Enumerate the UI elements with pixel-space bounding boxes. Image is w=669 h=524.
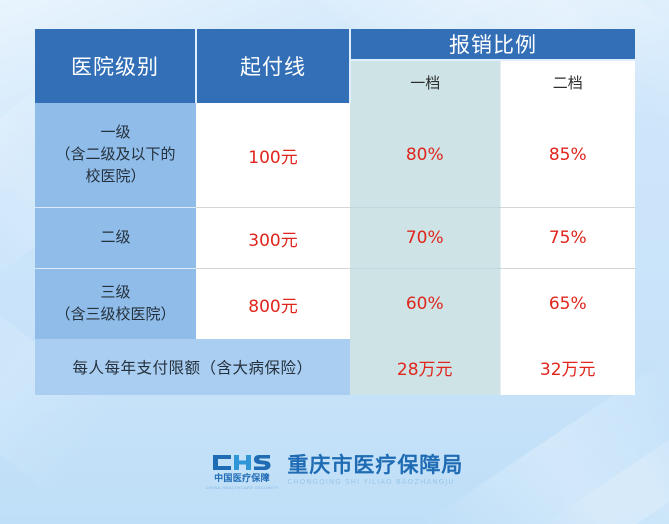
cell-tier-two-rate: 65% <box>500 269 635 340</box>
organization-name-block: 重庆市医疗保障局 CHONGQING SHI YILIAO BAOZHANGJU <box>287 455 463 488</box>
reimbursement-table-wrapper: 医院级别 起付线 报销比例 一档 二档 一级 （含二级及以下的 校医院） 100… <box>35 29 635 395</box>
cell-annual-limit-tier-one: 28万元 <box>350 339 500 395</box>
cell-annual-limit-tier-two: 32万元 <box>500 339 635 395</box>
level-line-1: 一级 <box>35 122 196 144</box>
table-header-row-top: 医院级别 起付线 报销比例 <box>35 29 635 60</box>
chs-logo-chinese: 中国医疗保障 <box>214 475 270 484</box>
cell-tier-one-rate: 70% <box>350 208 500 269</box>
header-reimbursement-ratio: 报销比例 <box>350 29 635 60</box>
table-row: 二级 300元 70% 75% <box>35 208 635 269</box>
footer-branding: 中国医疗保障 CHINA HEALTHCARE SECURITY 重庆市医疗保障… <box>0 452 669 490</box>
cell-hospital-level: 三级 （含三级校医院） <box>35 269 196 340</box>
header-deductible: 起付线 <box>196 29 350 103</box>
table-row: 一级 （含二级及以下的 校医院） 100元 80% 85% <box>35 103 635 208</box>
reimbursement-rate-table: 医院级别 起付线 报销比例 一档 二档 一级 （含二级及以下的 校医院） 100… <box>35 29 635 395</box>
header-tier-one: 一档 <box>350 60 500 103</box>
level-line-2: （含二级及以下的 <box>35 144 196 166</box>
cell-tier-one-rate: 80% <box>350 103 500 208</box>
cell-tier-two-rate: 85% <box>500 103 635 208</box>
table-row-annual-limit: 每人每年支付限额（含大病保险） 28万元 32万元 <box>35 339 635 395</box>
level-line-2: （含三级校医院） <box>35 304 196 326</box>
header-hospital-level: 医院级别 <box>35 29 196 103</box>
poster-canvas: 医院级别 起付线 报销比例 一档 二档 一级 （含二级及以下的 校医院） 100… <box>0 0 669 524</box>
chs-logo-icon <box>211 452 273 473</box>
header-tier-two: 二档 <box>500 60 635 103</box>
chs-logo-english: CHINA HEALTHCARE SECURITY <box>206 486 279 490</box>
cell-tier-one-rate: 60% <box>350 269 500 340</box>
cell-tier-two-rate: 75% <box>500 208 635 269</box>
cell-deductible: 300元 <box>196 208 350 269</box>
organization-name-pinyin: CHONGQING SHI YILIAO BAOZHANGJU <box>287 479 454 486</box>
level-line-1: 三级 <box>35 282 196 304</box>
level-line-3: 校医院） <box>35 166 196 188</box>
cell-hospital-level: 二级 <box>35 208 196 269</box>
cell-annual-limit-label: 每人每年支付限额（含大病保险） <box>35 339 350 395</box>
cell-hospital-level: 一级 （含二级及以下的 校医院） <box>35 103 196 208</box>
table-row: 三级 （含三级校医院） 800元 60% 65% <box>35 269 635 340</box>
cell-deductible: 100元 <box>196 103 350 208</box>
organization-name-chinese: 重庆市医疗保障局 <box>287 455 463 476</box>
level-line-1: 二级 <box>35 227 196 249</box>
chs-logo: 中国医疗保障 CHINA HEALTHCARE SECURITY <box>206 452 279 490</box>
cell-deductible: 800元 <box>196 269 350 340</box>
